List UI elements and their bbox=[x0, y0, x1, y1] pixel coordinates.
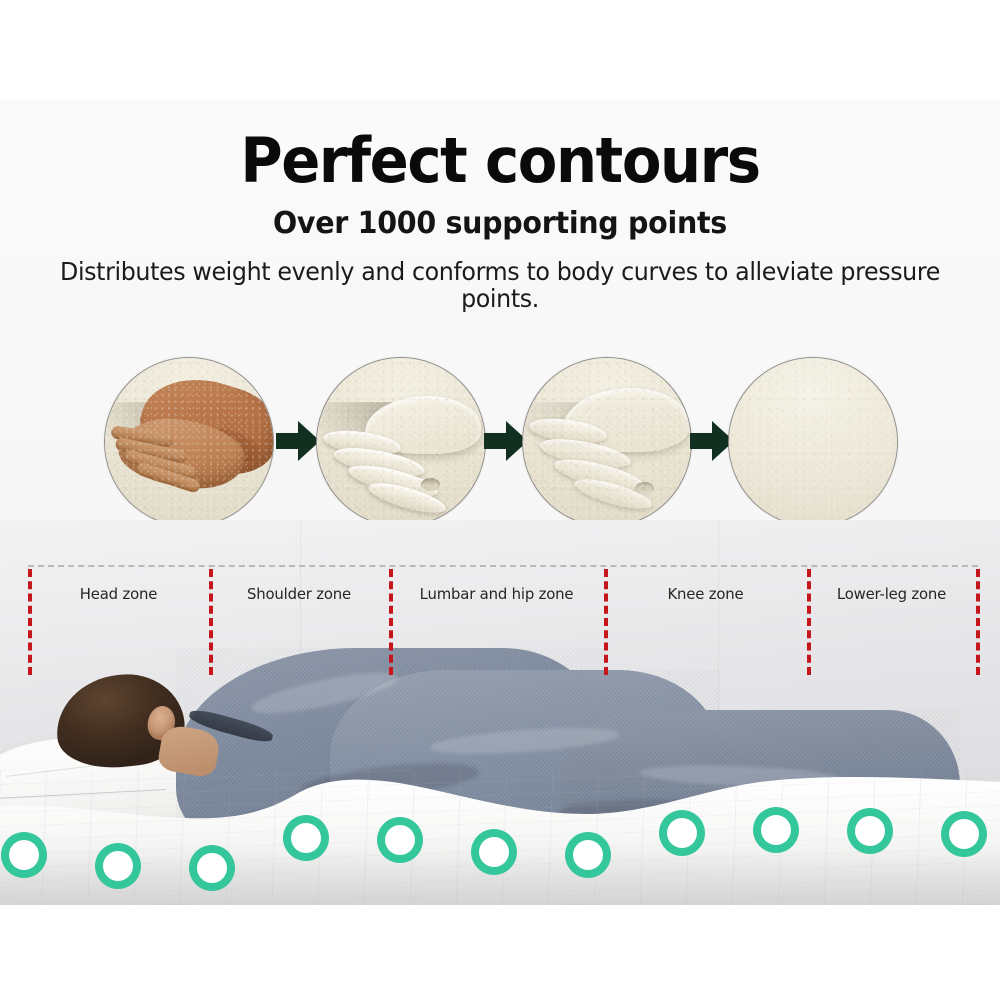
support-point-8 bbox=[667, 818, 697, 848]
support-point-2 bbox=[103, 851, 133, 881]
support-point-5 bbox=[385, 825, 415, 855]
foam-recovery-sequence bbox=[0, 355, 1000, 530]
support-point-4 bbox=[291, 823, 321, 853]
page-subtitle: Over 1000 supporting points bbox=[25, 208, 975, 240]
support-point-7 bbox=[573, 840, 603, 870]
page-title: Perfect contours bbox=[35, 130, 965, 192]
infographic-page: Perfect contours Over 1000 supporting po… bbox=[0, 0, 1000, 1000]
foam-step-3-fading-imprint-icon bbox=[522, 357, 692, 527]
foam-step-4-recovered-icon bbox=[728, 357, 898, 527]
right-arrow-icon-1 bbox=[276, 421, 320, 461]
support-point-6 bbox=[479, 837, 509, 867]
foam-step-2-deep-imprint-icon bbox=[316, 357, 486, 527]
page-description: Distributes weight evenly and conforms t… bbox=[25, 258, 975, 313]
top-white-band bbox=[0, 0, 1000, 100]
support-point-3 bbox=[197, 853, 227, 883]
support-point-1 bbox=[9, 840, 39, 870]
support-point-11 bbox=[949, 819, 979, 849]
bottom-white-band bbox=[0, 905, 1000, 1000]
support-point-10 bbox=[855, 816, 885, 846]
foam-step-1-hand-pressing-icon bbox=[104, 357, 274, 527]
headline-block: Perfect contours Over 1000 supporting po… bbox=[0, 130, 1000, 313]
support-point-9 bbox=[761, 815, 791, 845]
